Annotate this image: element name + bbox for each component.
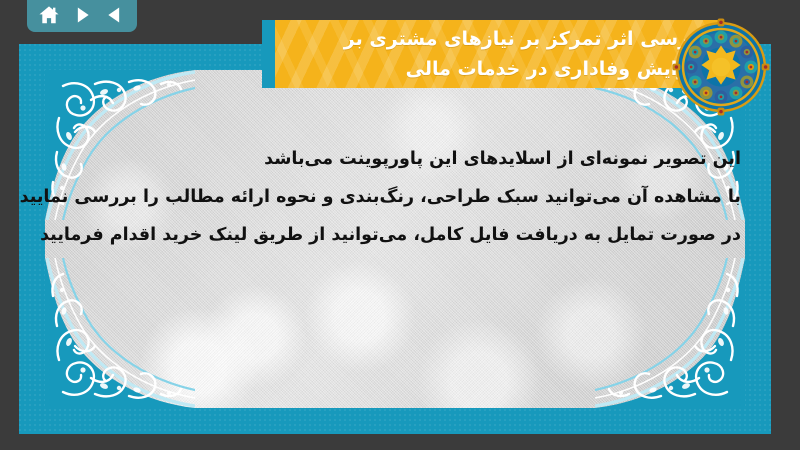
title-line-2: افزایش وفاداری در خدمات مالی (286, 54, 708, 84)
forward-button[interactable] (68, 3, 96, 27)
title-line-1: بررسی اثر تمرکز بر نیازهای مشتری بر (286, 24, 708, 54)
slide-preview-stage: این تصویر نمونه‌ای از اسلایدهای این پاور… (0, 0, 800, 450)
body-line-2: با مشاهده آن می‌توانید سبک طراحی، رنگ‌بن… (49, 178, 741, 216)
forward-triangle-icon (72, 5, 92, 25)
banner-teal-accent (262, 20, 275, 88)
slide-title-banner: بررسی اثر تمرکز بر نیازهای مشتری بر افزا… (262, 20, 722, 88)
body-line-1: این تصویر نمونه‌ای از اسلایدهای این پاور… (49, 140, 741, 178)
slide-canvas: این تصویر نمونه‌ای از اسلایدهای این پاور… (19, 44, 771, 434)
slide-body-text: این تصویر نمونه‌ای از اسلایدهای این پاور… (49, 140, 741, 254)
home-icon (38, 4, 60, 26)
back-button[interactable] (101, 3, 129, 27)
navigation-bar (27, 0, 137, 32)
page-title: بررسی اثر تمرکز بر نیازهای مشتری بر افزا… (286, 24, 708, 84)
body-line-3: در صورت تمایل به دریافت فایل کامل، می‌تو… (49, 216, 741, 254)
home-button[interactable] (35, 3, 63, 27)
back-triangle-icon (105, 5, 125, 25)
